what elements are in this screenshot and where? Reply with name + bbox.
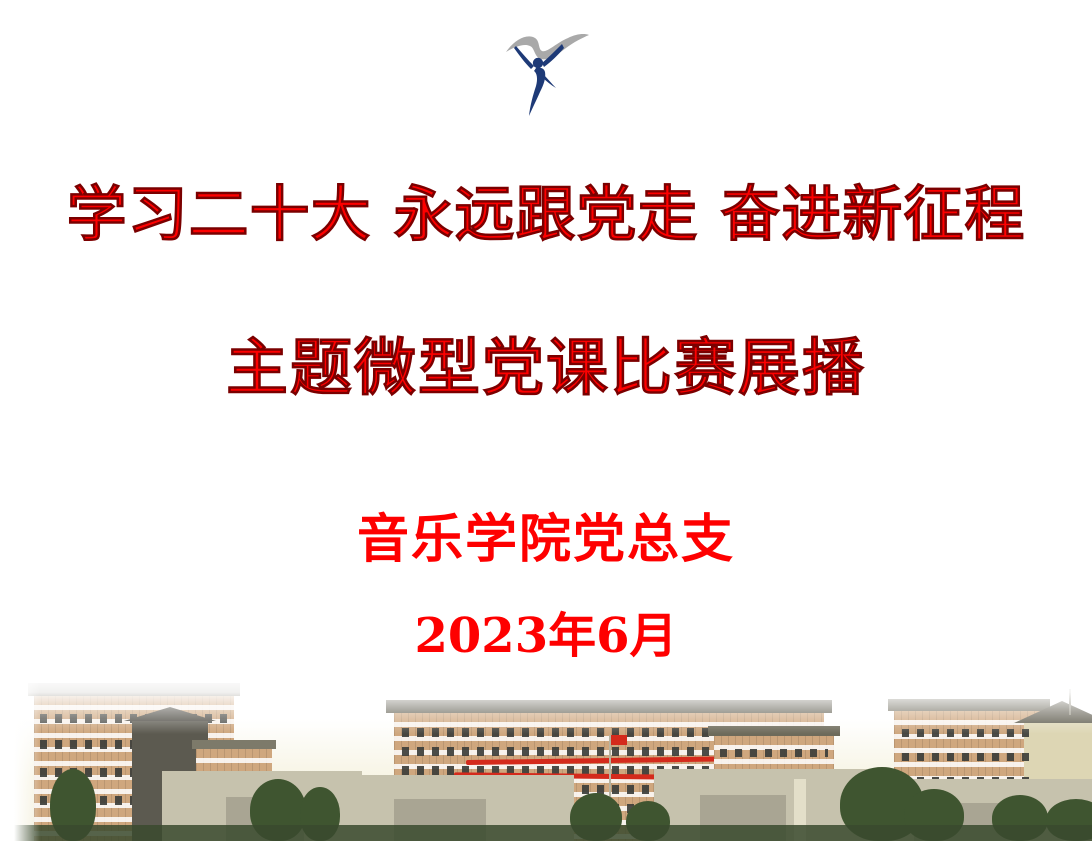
campus-photo <box>0 676 1092 841</box>
campus-photo-image <box>14 676 1092 841</box>
dancing-figure-with-bird-logo <box>494 22 598 118</box>
building-farright-roof <box>888 699 1050 711</box>
organization-name: 音乐学院党总支 <box>0 508 1092 572</box>
figure-left-arm <box>514 46 534 69</box>
headline-line-2: 主题微型党课比赛展播 <box>0 330 1092 406</box>
building-main-roof <box>386 700 832 713</box>
building-leftcenter-roof <box>192 740 276 749</box>
red-flag <box>611 735 627 745</box>
building-farright-windows-row1 <box>902 729 1036 737</box>
building-farright-windows-row2 <box>902 753 1036 761</box>
bird-swoosh-icon <box>506 34 589 59</box>
logo-area <box>0 22 1092 122</box>
figure-head <box>533 58 543 68</box>
utility-pole <box>1069 689 1071 715</box>
shrub-line <box>14 825 1092 841</box>
building-left-roof <box>28 683 240 696</box>
date-label: 2023年6月 <box>0 606 1092 666</box>
headline-line-1: 学习二十大 永远跟党走 奋进新征程 <box>0 178 1092 252</box>
building-right-roof <box>708 726 840 736</box>
building-right-windows-row1 <box>720 749 828 757</box>
presentation-slide: 学习二十大 永远跟党走 奋进新征程 主题微型党课比赛展播 音乐学院党总支 202… <box>0 0 1092 841</box>
